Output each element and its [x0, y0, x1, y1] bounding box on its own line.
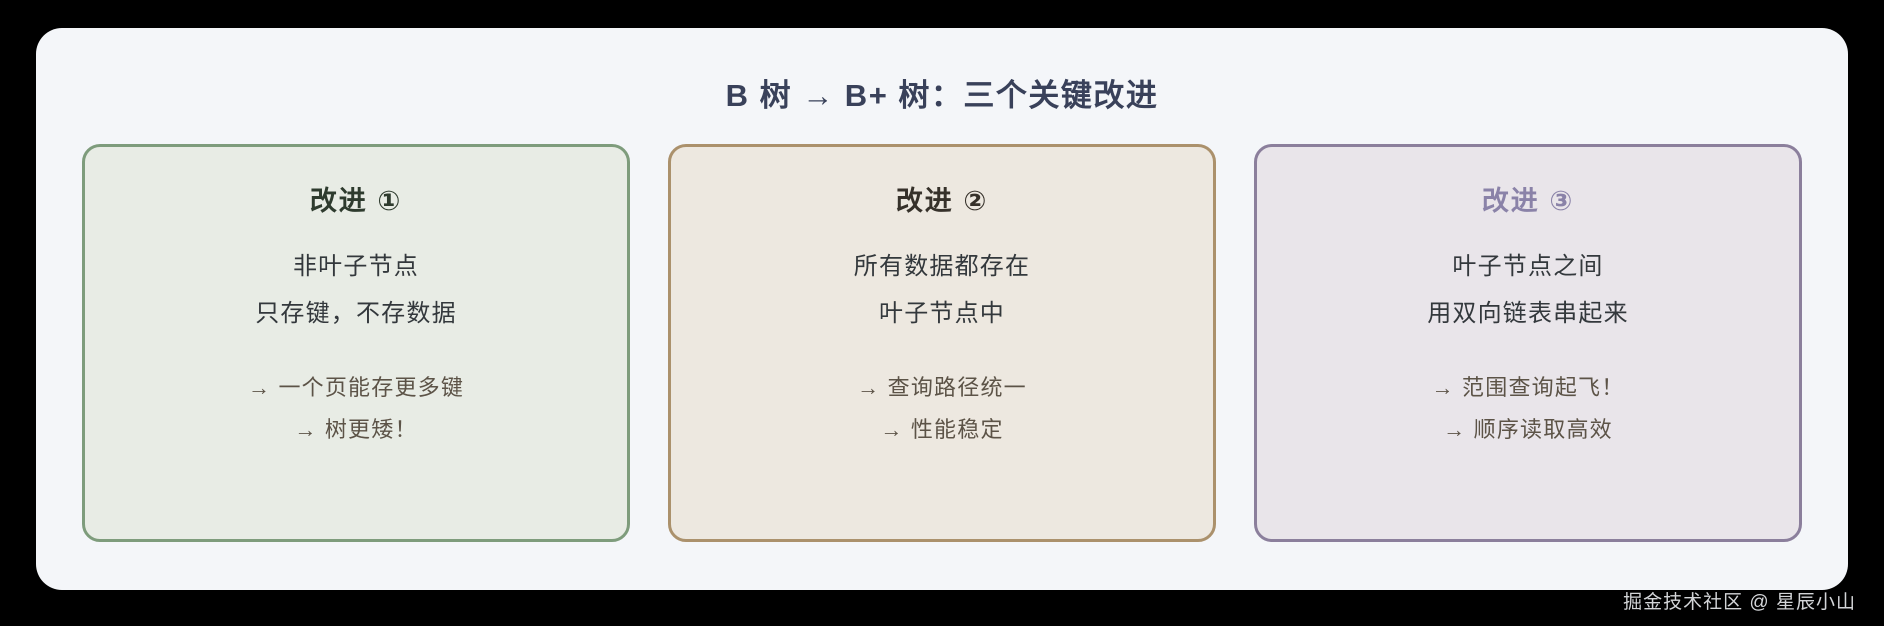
card-3-heading: 改进 ③ — [1482, 179, 1574, 218]
card-2-note-line: → 性能稳定 — [880, 412, 1003, 444]
card-1-notes: → 一个页能存更多键 → 树更矮！ — [248, 370, 464, 444]
card-2-body: 所有数据都存在 叶子节点中 — [854, 246, 1030, 328]
improvement-card-3: 改进 ③ 叶子节点之间 用双向链表串起来 → 范围查询起飞！ → 顺序读取高效 — [1254, 144, 1802, 542]
watermark: 掘金技术社区 @ 星辰小山 — [1623, 587, 1856, 614]
page-title: B 树 → B+ 树：三个关键改进 — [36, 70, 1848, 115]
card-1-note-line: → 树更矮！ — [294, 412, 417, 444]
improvement-card-1: 改进 ① 非叶子节点 只存键，不存数据 → 一个页能存更多键 → 树更矮！ — [82, 144, 630, 542]
card-1-heading: 改进 ① — [310, 179, 402, 218]
improvement-cards-row: 改进 ① 非叶子节点 只存键，不存数据 → 一个页能存更多键 → 树更矮！ 改进… — [82, 144, 1802, 542]
card-3-body-line: 叶子节点之间 — [1452, 246, 1603, 281]
card-2-body-line: 叶子节点中 — [879, 293, 1005, 328]
improvement-card-2: 改进 ② 所有数据都存在 叶子节点中 → 查询路径统一 → 性能稳定 — [668, 144, 1216, 542]
card-1-body-line: 非叶子节点 — [293, 246, 419, 281]
card-2-note-line: → 查询路径统一 — [857, 370, 1027, 402]
card-1-body-line: 只存键，不存数据 — [255, 293, 457, 328]
content-panel: B 树 → B+ 树：三个关键改进 改进 ① 非叶子节点 只存键，不存数据 → … — [36, 28, 1848, 590]
card-1-note-line: → 一个页能存更多键 — [248, 370, 464, 402]
card-1-body: 非叶子节点 只存键，不存数据 — [255, 246, 457, 328]
card-3-body: 叶子节点之间 用双向链表串起来 — [1427, 246, 1629, 328]
card-3-notes: → 范围查询起飞！ → 顺序读取高效 — [1432, 370, 1625, 444]
card-2-body-line: 所有数据都存在 — [854, 246, 1030, 281]
card-2-notes: → 查询路径统一 → 性能稳定 — [857, 370, 1027, 444]
card-2-heading: 改进 ② — [896, 179, 988, 218]
card-3-note-line: → 范围查询起飞！ — [1432, 370, 1625, 402]
card-3-body-line: 用双向链表串起来 — [1427, 293, 1629, 328]
page-stage: B 树 → B+ 树：三个关键改进 改进 ① 非叶子节点 只存键，不存数据 → … — [0, 0, 1884, 626]
card-3-note-line: → 顺序读取高效 — [1443, 412, 1613, 444]
